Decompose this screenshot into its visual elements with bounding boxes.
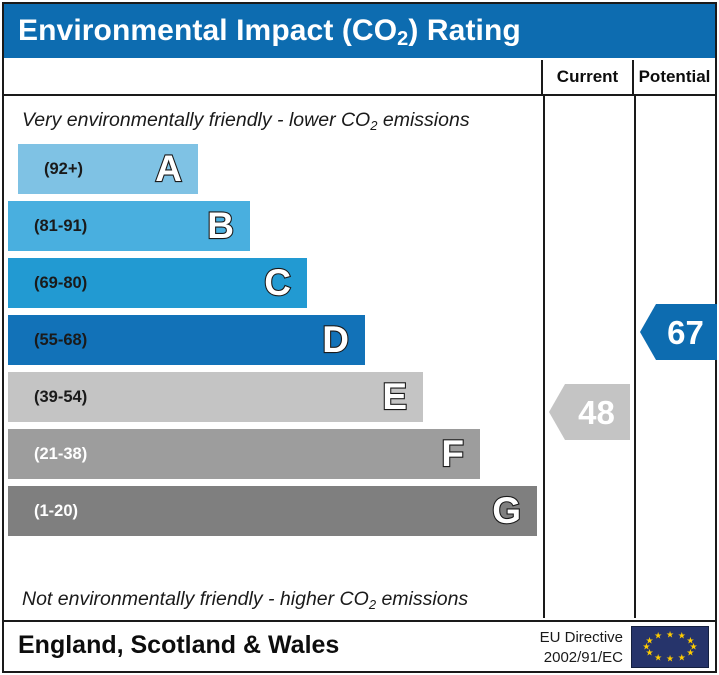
chart-footer: England, Scotland & Wales EU Directive 2… xyxy=(4,620,715,671)
eu-flag-star: ★ xyxy=(678,653,686,662)
rating-band-list: (92+)A(81-91)B(69-80)C(55-68)D(39-54)E(2… xyxy=(4,144,543,584)
footer-region-label: England, Scotland & Wales xyxy=(18,631,339,660)
rating-band-c: (69-80)C xyxy=(8,258,307,308)
potential-rating-arrow: 67 xyxy=(640,304,717,360)
eu-flag-star: ★ xyxy=(666,655,674,664)
band-letter-c: C xyxy=(264,264,291,301)
band-range-a: (92+) xyxy=(18,160,83,179)
rating-band-d: (55-68)D xyxy=(8,315,365,365)
band-range-e: (39-54) xyxy=(8,388,87,407)
page-title: Environmental Impact (CO2) Rating xyxy=(4,14,521,48)
band-range-f: (21-38) xyxy=(8,445,87,464)
rating-band-g: (1-20)G xyxy=(8,486,537,536)
rating-band-b: (81-91)B xyxy=(8,201,250,251)
epc-environmental-impact-chart: Environmental Impact (CO2) Rating Curren… xyxy=(0,0,719,675)
band-letter-a: A xyxy=(155,150,182,187)
footer-directive: EU Directive 2002/91/EC xyxy=(540,628,623,667)
header-spacer-cell xyxy=(4,60,543,94)
column-divider-potential xyxy=(634,96,636,618)
band-letter-d: D xyxy=(322,321,349,358)
eu-flag-icon: ★★★★★★★★★★★★ xyxy=(631,626,709,668)
band-range-d: (55-68) xyxy=(8,331,87,350)
directive-line-2: 2002/91/EC xyxy=(540,648,623,668)
eu-flag-star: ★ xyxy=(654,632,662,641)
caption-bottom-subscript: 2 xyxy=(369,597,376,612)
band-range-g: (1-20) xyxy=(8,502,78,521)
eu-flag-star: ★ xyxy=(686,649,694,658)
column-header-current: Current xyxy=(543,60,634,94)
caption-top-subscript: 2 xyxy=(370,118,377,133)
band-letter-b: B xyxy=(207,207,234,244)
caption-bottom: Not environmentally friendly - higher CO… xyxy=(22,588,468,611)
eu-flag-star: ★ xyxy=(646,636,654,645)
column-header-potential: Potential xyxy=(634,60,715,94)
band-letter-g: G xyxy=(492,492,521,529)
potential-rating-value: 67 xyxy=(653,316,704,349)
current-rating-arrow: 48 xyxy=(549,384,630,440)
band-letter-e: E xyxy=(382,378,407,415)
rating-band-f: (21-38)F xyxy=(8,429,480,479)
band-letter-f: F xyxy=(441,435,464,472)
rating-band-e: (39-54)E xyxy=(8,372,423,422)
current-rating-value: 48 xyxy=(564,396,615,429)
chart-body: Very environmentally friendly - lower CO… xyxy=(4,96,715,618)
eu-flag-star: ★ xyxy=(678,632,686,641)
caption-top: Very environmentally friendly - lower CO… xyxy=(22,109,470,132)
directive-line-1: EU Directive xyxy=(540,628,623,648)
column-divider-current xyxy=(543,96,545,618)
eu-flag-star: ★ xyxy=(654,653,662,662)
band-range-b: (81-91) xyxy=(8,217,87,236)
column-header-row: Current Potential xyxy=(4,60,715,96)
title-subscript: 2 xyxy=(397,28,408,50)
rating-band-a: (92+)A xyxy=(18,144,198,194)
chart-title-bar: Environmental Impact (CO2) Rating xyxy=(4,4,715,58)
eu-flag-star: ★ xyxy=(666,630,674,639)
band-range-c: (69-80) xyxy=(8,274,87,293)
